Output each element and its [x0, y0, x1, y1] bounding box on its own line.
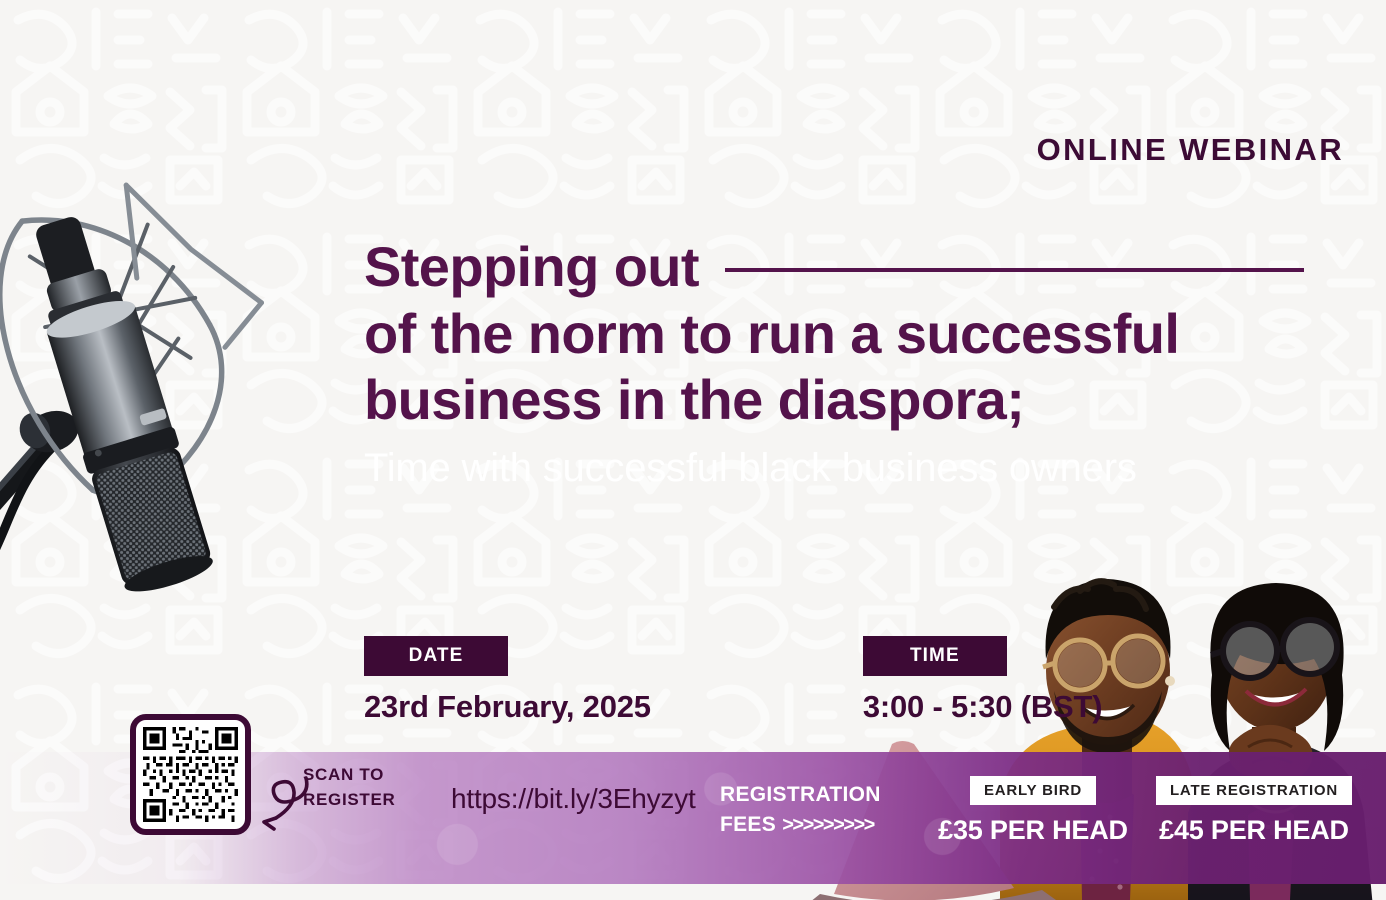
- time-value: 3:00 - 5:30 (BST): [863, 689, 1103, 725]
- microphone-icon: [0, 140, 312, 610]
- webinar-flyer: ONLINE WEBINAR Stepping out of the norm …: [0, 0, 1386, 900]
- late-registration-price-block: LATE REGISTRATION £45 PER HEAD: [1122, 776, 1386, 846]
- title-line-1: Stepping out: [364, 234, 699, 301]
- fees-line-2: FEES: [720, 813, 776, 836]
- registration-fees-label: REGISTRATION FEES >>>>>>>>>: [720, 780, 881, 840]
- fees-line-2-row: FEES >>>>>>>>>: [720, 810, 881, 840]
- registration-link[interactable]: https://bit.ly/3Ehyzyt: [451, 783, 696, 815]
- time-label: TIME: [863, 636, 1007, 676]
- scan-line-1: SCAN TO: [303, 763, 396, 788]
- title-line-2: of the norm to run a successful: [364, 301, 1304, 368]
- late-registration-label: LATE REGISTRATION: [1156, 776, 1352, 805]
- scan-to-register-label: SCAN TO REGISTER: [303, 763, 396, 812]
- date-value: 23rd February, 2025: [364, 689, 651, 725]
- fees-chevrons-icon: >>>>>>>>>: [782, 814, 874, 836]
- webinar-kicker: ONLINE WEBINAR: [1037, 132, 1344, 168]
- early-bird-label: EARLY BIRD: [970, 776, 1096, 805]
- title-block: Stepping out of the norm to run a succes…: [364, 234, 1304, 491]
- early-bird-price: £35 PER HEAD: [938, 815, 1128, 846]
- title-line-3: business in the diaspora;: [364, 367, 1304, 434]
- title-first-row: Stepping out: [364, 234, 1304, 301]
- title-subtitle: Time with successful black business owne…: [364, 446, 1304, 491]
- date-label: DATE: [364, 636, 508, 676]
- fees-line-1: REGISTRATION: [720, 780, 881, 810]
- time-group: TIME 3:00 - 5:30 (BST): [863, 636, 1103, 725]
- date-group: DATE 23rd February, 2025: [364, 636, 651, 725]
- late-registration-price: £45 PER HEAD: [1159, 815, 1349, 846]
- qr-code-icon[interactable]: [130, 714, 251, 835]
- scan-line-2: REGISTER: [303, 788, 396, 813]
- title-divider-rule: [725, 268, 1304, 272]
- event-meta-row: DATE 23rd February, 2025 TIME 3:00 - 5:3…: [364, 636, 1102, 725]
